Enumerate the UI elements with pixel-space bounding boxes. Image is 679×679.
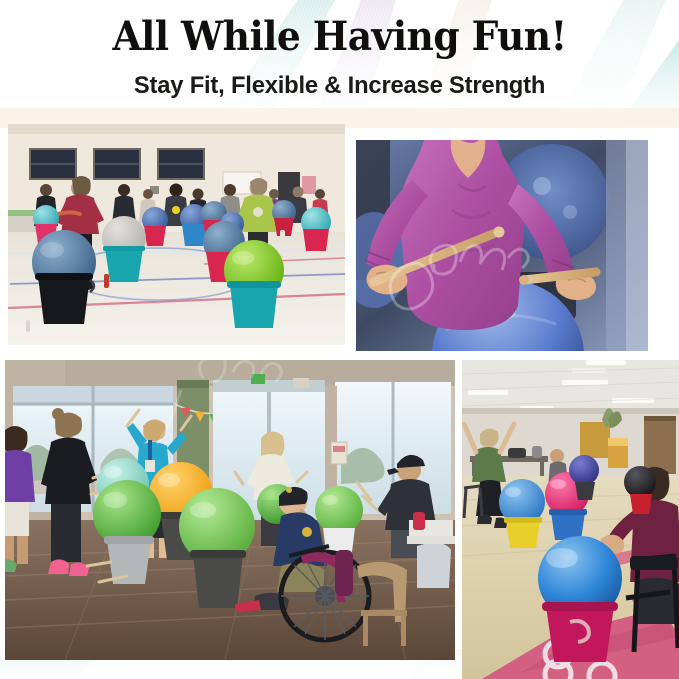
photo-bottom-left-art (5, 360, 455, 660)
photo-gym-class-exercise-balls (8, 124, 345, 345)
page-subtitle: Stay Fit, Flexible & Increase Strength (10, 57, 669, 99)
photo-bottom-right-art (462, 360, 679, 679)
photo-top-left-art (8, 124, 345, 345)
photo-community-center-class (5, 360, 455, 660)
water-bottle (104, 274, 109, 288)
page-title: All While Having Fun! (20, 0, 658, 57)
photo-top-right-art (356, 140, 648, 351)
ball-bucket-mid-grey (102, 216, 146, 282)
photo-closeup-drummer-purple-top (356, 140, 648, 351)
chair-seat (630, 556, 678, 570)
header-block: All While Having Fun! Stay Fit, Flexible… (0, 0, 679, 99)
ball-bucket-back-6 (301, 207, 331, 251)
poster-canvas: All While Having Fun! Stay Fit, Flexible… (0, 0, 679, 679)
photo-gym-hall-shuffleboard-floor (462, 360, 679, 679)
windows (30, 149, 204, 179)
